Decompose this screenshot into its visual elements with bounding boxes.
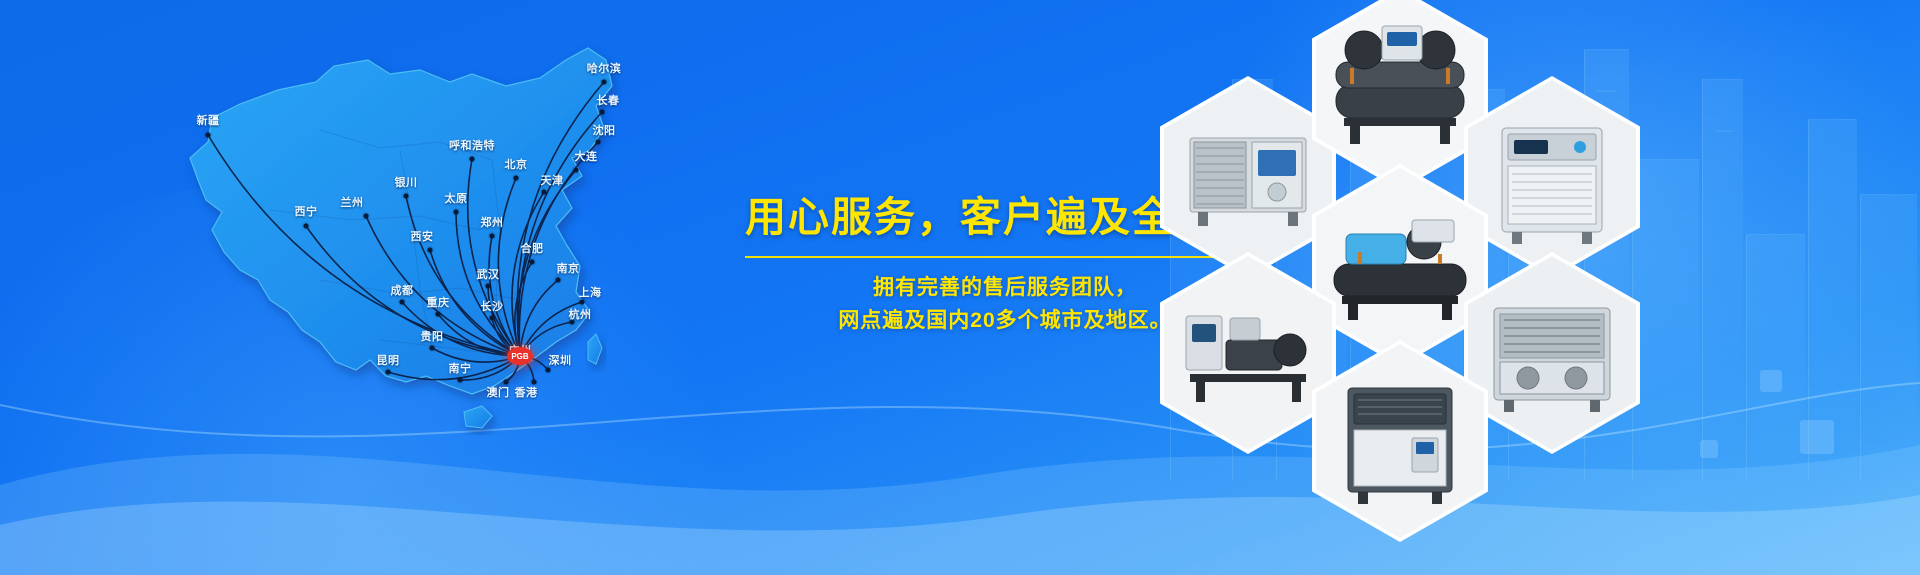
map-city-label: 合肥 bbox=[521, 240, 544, 256]
product-hex-water-cooled-screw-chiller[interactable] bbox=[1312, 0, 1488, 190]
map-city-dot bbox=[304, 224, 309, 229]
map-city-label: 新疆 bbox=[197, 112, 220, 128]
map-city-label: 兰州 bbox=[341, 194, 364, 210]
map-city-dot bbox=[470, 157, 475, 162]
map-city-label: 沈阳 bbox=[593, 122, 616, 138]
map-city-dot bbox=[490, 316, 495, 321]
product-hex-grid bbox=[1160, 0, 1880, 575]
map-city-label: 大连 bbox=[575, 148, 598, 164]
map-city-dot bbox=[486, 284, 491, 289]
map-city-dot bbox=[490, 234, 495, 239]
map-city-dot bbox=[386, 370, 391, 375]
map-city-label: 南宁 bbox=[449, 360, 472, 376]
china-map-shape bbox=[120, 30, 640, 450]
map-city-dot bbox=[454, 210, 459, 215]
map-city-dot bbox=[428, 248, 433, 253]
map-city-label: 长春 bbox=[597, 92, 620, 108]
china-service-map: 新疆西宁兰州银川太原呼和浩特北京天津大连哈尔滨长春沈阳西安郑州合肥南京上海杭州武… bbox=[120, 30, 640, 450]
map-city-label: 天津 bbox=[541, 172, 564, 188]
product-hex-air-cooled-condensing-unit[interactable] bbox=[1160, 76, 1336, 278]
map-city-label: 贵阳 bbox=[421, 328, 444, 344]
map-city-label: 银川 bbox=[395, 174, 418, 190]
map-city-label: 深圳 bbox=[549, 352, 572, 368]
map-city-dot bbox=[514, 176, 519, 181]
product-hex-cabinet-water-chiller[interactable] bbox=[1312, 340, 1488, 542]
map-city-label: 成都 bbox=[391, 282, 414, 298]
product-hex-industrial-air-cooled-unit[interactable] bbox=[1464, 252, 1640, 454]
map-city-label: 哈尔滨 bbox=[587, 60, 622, 76]
map-city-label: 武汉 bbox=[477, 266, 500, 282]
map-city-dot bbox=[574, 168, 579, 173]
promo-banner: 新疆西宁兰州银川太原呼和浩特北京天津大连哈尔滨长春沈阳西安郑州合肥南京上海杭州武… bbox=[0, 0, 1920, 575]
map-city-label: 南京 bbox=[557, 260, 580, 276]
product-hex-box-type-air-cooled-chiller[interactable] bbox=[1464, 76, 1640, 278]
map-city-label: 长沙 bbox=[481, 298, 504, 314]
map-city-dot bbox=[430, 346, 435, 351]
map-city-label: 昆明 bbox=[377, 352, 400, 368]
map-city-dot bbox=[530, 260, 535, 265]
map-city-label: 西宁 bbox=[295, 203, 318, 219]
map-city-dot bbox=[600, 110, 605, 115]
map-city-label: 澳门 bbox=[487, 384, 510, 400]
map-city-label: 呼和浩特 bbox=[449, 137, 495, 153]
map-city-label: 郑州 bbox=[481, 214, 504, 230]
map-city-label: 太原 bbox=[445, 190, 468, 206]
map-city-label: 北京 bbox=[505, 156, 528, 172]
map-city-dot bbox=[400, 300, 405, 305]
map-city-dot bbox=[596, 140, 601, 145]
product-hex-low-temp-screw-unit[interactable] bbox=[1312, 164, 1488, 366]
map-city-dot bbox=[206, 133, 211, 138]
map-city-dot bbox=[404, 194, 409, 199]
map-city-label: 上海 bbox=[579, 284, 602, 300]
map-city-dot bbox=[364, 214, 369, 219]
map-city-dot bbox=[602, 80, 607, 85]
map-city-label: 杭州 bbox=[569, 306, 592, 322]
hub-label: PGB bbox=[511, 352, 528, 361]
map-city-dot bbox=[436, 312, 441, 317]
map-city-dot bbox=[556, 278, 561, 283]
product-hex-open-type-compressor-unit[interactable] bbox=[1160, 252, 1336, 454]
map-hub-marker: PGB bbox=[507, 347, 533, 365]
map-city-label: 重庆 bbox=[427, 294, 450, 310]
map-city-dot bbox=[542, 190, 547, 195]
map-city-dot bbox=[458, 378, 463, 383]
map-city-dot bbox=[546, 368, 551, 373]
map-city-dot bbox=[580, 300, 585, 305]
map-city-label: 香港 bbox=[515, 384, 538, 400]
map-city-label: 西安 bbox=[411, 228, 434, 244]
